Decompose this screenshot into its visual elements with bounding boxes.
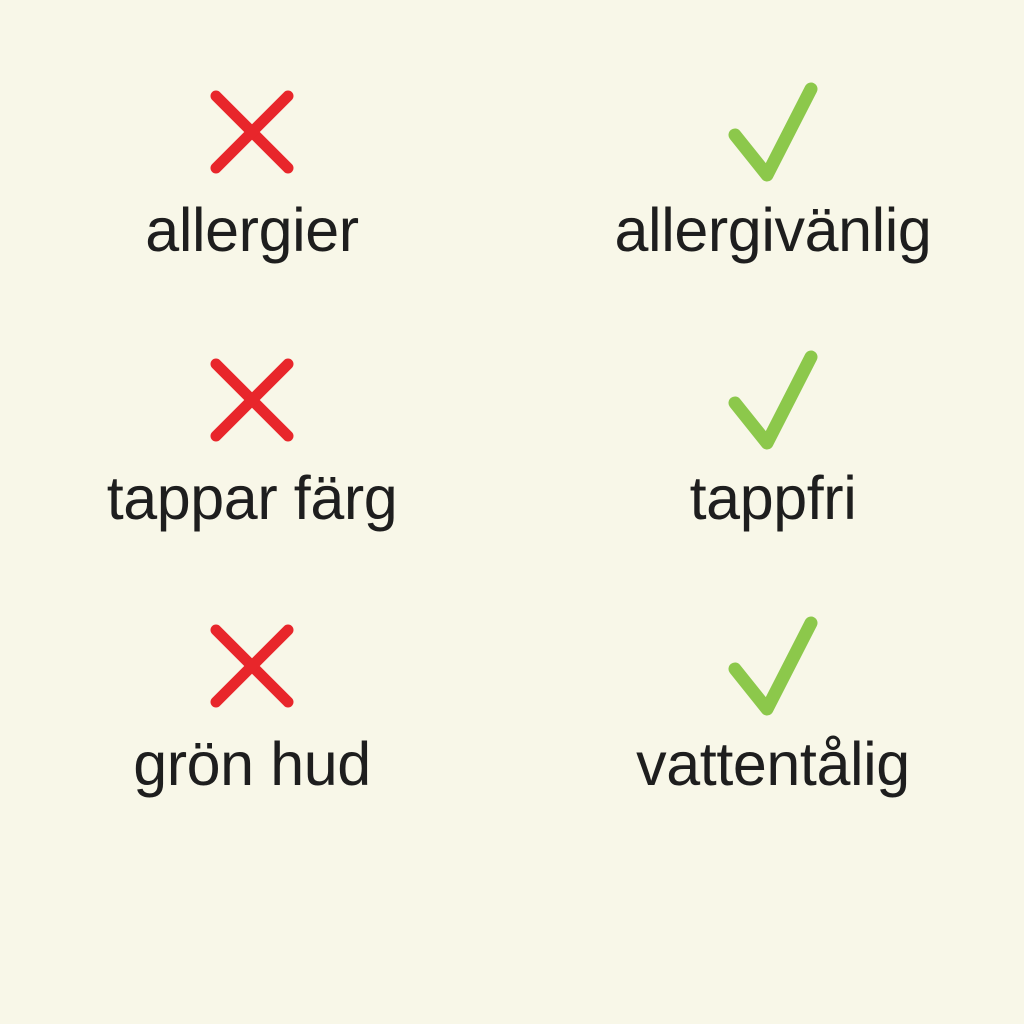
check-mark-icon (721, 346, 825, 454)
comparison-item-label: grön hud (133, 734, 371, 795)
x-mark-icon (200, 78, 304, 186)
comparison-item-label: allergivänlig (615, 200, 932, 261)
comparison-item-label: allergier (145, 200, 358, 261)
comparison-item-label: tappar färg (107, 468, 398, 529)
comparison-board: allergier allergivänlig tappar färg (0, 0, 1024, 1024)
check-mark-icon (721, 612, 825, 720)
x-mark-icon (200, 612, 304, 720)
comparison-item-label: tappfri (690, 468, 857, 529)
comparison-item-negative-3: grön hud (0, 610, 512, 876)
check-mark-icon (721, 78, 825, 186)
comparison-item-positive-3: vattentålig (512, 610, 1024, 876)
comparison-item-label: vattentålig (636, 734, 910, 795)
comparison-item-negative-2: tappar färg (0, 344, 512, 610)
comparison-item-positive-2: tappfri (512, 344, 1024, 610)
comparison-grid: allergier allergivänlig tappar färg (0, 78, 1024, 876)
x-mark-icon (200, 346, 304, 454)
comparison-item-negative-1: allergier (0, 78, 512, 344)
comparison-item-positive-1: allergivänlig (512, 78, 1024, 344)
